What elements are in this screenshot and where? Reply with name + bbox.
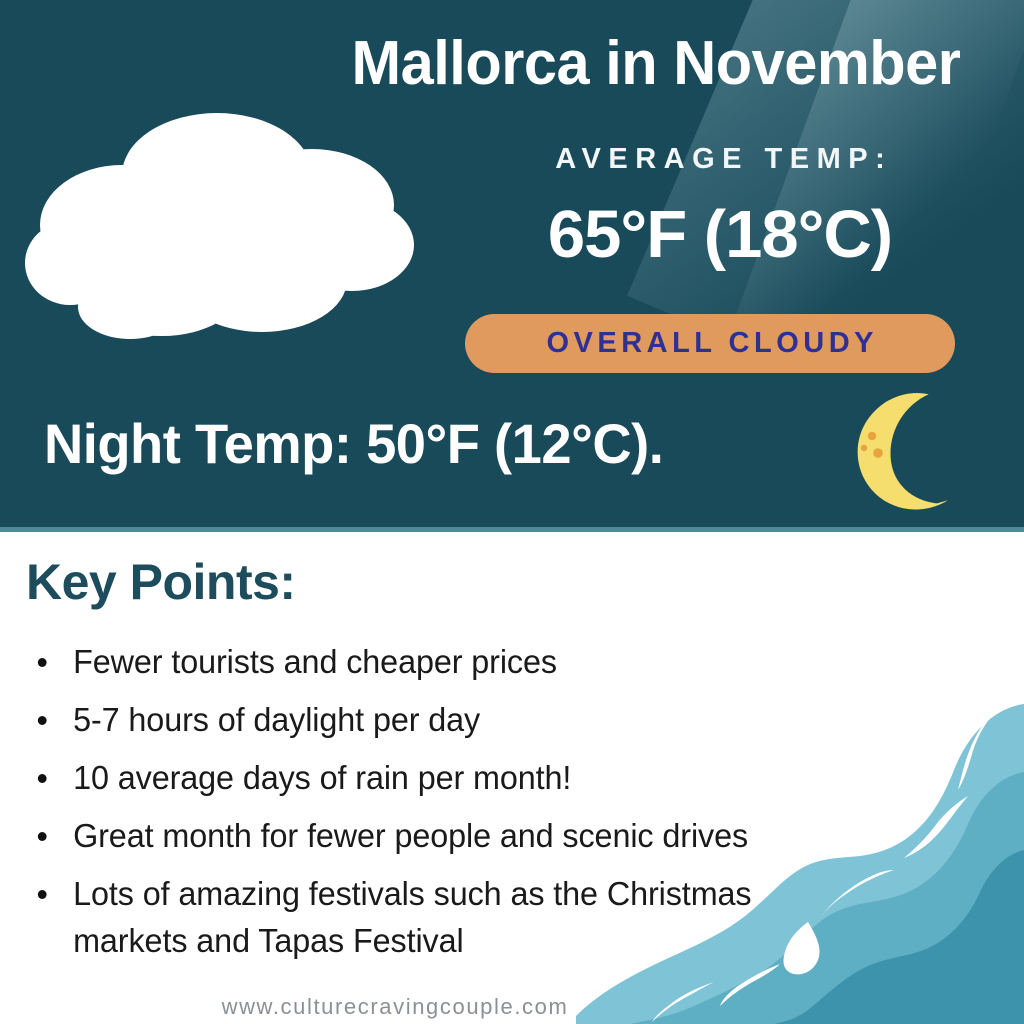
bullet-dot-icon (38, 832, 47, 841)
bullet-dot-icon (38, 658, 47, 667)
list-item-label: Lots of amazing festivals such as the Ch… (73, 875, 751, 959)
list-item-label: 5-7 hours of daylight per day (73, 701, 480, 738)
infographic-card: Mallorca in November AVERAGE TEMP: 65°F … (0, 0, 1024, 1024)
list-item-label: 10 average days of rain per month! (73, 759, 571, 796)
page-title: Mallorca in November (314, 28, 998, 100)
list-item: Great month for fewer people and scenic … (28, 812, 802, 859)
key-points-panel: Key Points: Fewer tourists and cheaper p… (0, 532, 1024, 1024)
list-item: 10 average days of rain per month! (28, 754, 802, 801)
list-item: Fewer tourists and cheaper prices (28, 638, 802, 685)
key-points-list: Fewer tourists and cheaper prices 5-7 ho… (28, 638, 818, 975)
list-item-label: Fewer tourists and cheaper prices (73, 643, 557, 680)
bullet-dot-icon (38, 890, 47, 899)
website-url: www.culturecravingcouple.com (0, 994, 790, 1020)
cloud-icon (12, 95, 432, 345)
list-item: 5-7 hours of daylight per day (28, 696, 802, 743)
average-temp-label: AVERAGE TEMP: (440, 143, 1000, 176)
crescent-moon-icon (842, 388, 964, 510)
hero-panel: Mallorca in November AVERAGE TEMP: 65°F … (0, 0, 1024, 532)
list-item: Lots of amazing festivals such as the Ch… (28, 870, 802, 964)
average-temp-value: 65°F (18°C) (440, 193, 1000, 277)
key-points-heading: Key Points: (26, 553, 296, 611)
list-item-label: Great month for fewer people and scenic … (73, 817, 748, 854)
bullet-dot-icon (38, 774, 47, 783)
night-temp-text: Night Temp: 50°F (12°C). (44, 411, 663, 476)
condition-badge: OVERALL CLOUDY (465, 314, 955, 373)
condition-badge-label: OVERALL CLOUDY (542, 327, 878, 360)
bullet-dot-icon (38, 716, 47, 725)
